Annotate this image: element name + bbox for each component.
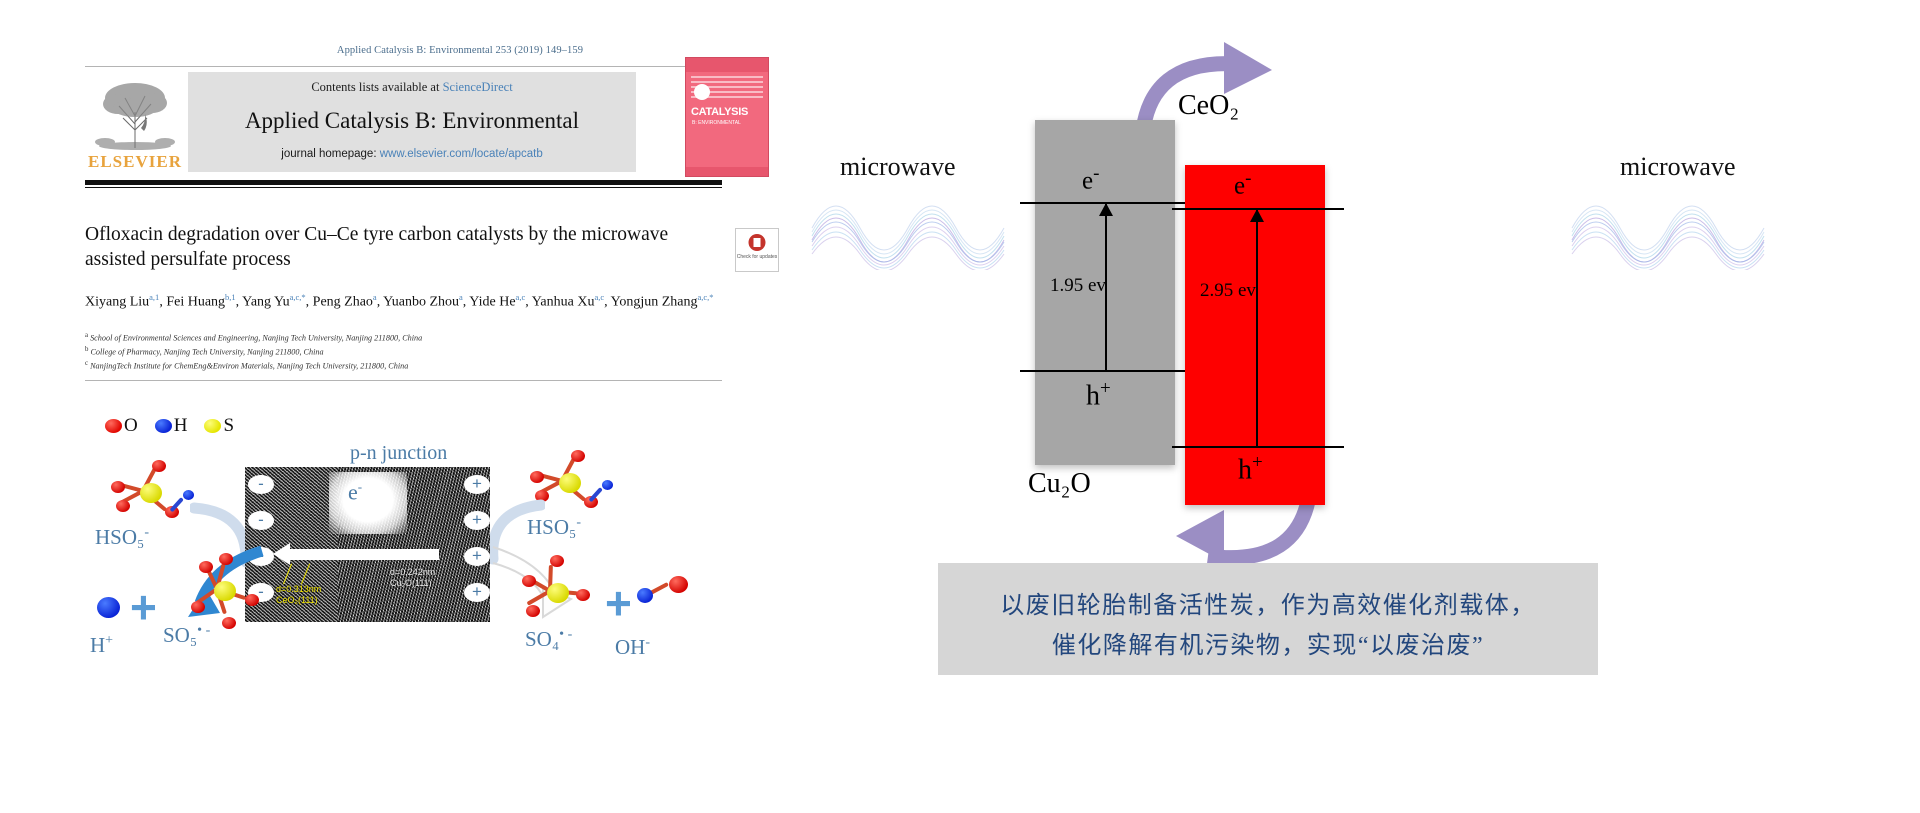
- legend-label: H: [174, 415, 188, 437]
- article-title: Ofloxacin degradation over Cu–Ce tyre ca…: [85, 222, 725, 272]
- contents-lists-line: Contents lists available at ScienceDirec…: [188, 80, 636, 95]
- masthead-bottom-rule-thin: [85, 187, 722, 188]
- paper-first-page: Applied Catalysis B: Environmental 253 (…: [0, 0, 860, 813]
- hso5-right-charge: -: [576, 515, 581, 530]
- journal-title: Applied Catalysis B: Environmental: [188, 108, 636, 134]
- cover-title: CATALYSIS: [691, 106, 748, 118]
- affiliation-marker: a: [85, 332, 88, 339]
- hole-letter: h: [1086, 380, 1100, 411]
- ceo2-hole-label: h+: [1238, 452, 1263, 486]
- cover-bottom-band: [686, 167, 768, 176]
- oh-text: OH: [615, 635, 645, 659]
- legend-item-sulfur: S: [204, 415, 234, 437]
- legend-label: O: [124, 415, 138, 437]
- ceo2-electron-label: e-: [1234, 168, 1251, 200]
- summary-line-1: 以废旧轮胎制备活性炭，作为高效催化剂载体，: [938, 585, 1598, 620]
- cu2o-hole-label: h+: [1086, 378, 1111, 412]
- microwave-waveform-left-icon: [810, 190, 1020, 270]
- negative-charge-badge: -: [248, 511, 274, 530]
- h-text: H: [90, 633, 105, 657]
- hydrogen-atom-icon: [97, 597, 120, 618]
- ceo2-valence-band-line: [1172, 446, 1344, 448]
- crossmark-book-icon: [754, 238, 761, 247]
- oxygen-atom-icon: [669, 576, 688, 593]
- legend-item-oxygen: O: [105, 415, 138, 437]
- mechanism-panel: e- 1.95 ev h+ Cu₂O e- 2.95 ev h+ CeO₂ mi…: [860, 0, 1920, 813]
- oxygen-atom-icon: [526, 605, 540, 617]
- label-hso5-left: HSO₅-: [95, 525, 149, 550]
- cu2o-valence-band-line: [1020, 370, 1192, 372]
- oxygen-atom-icon: [576, 589, 590, 601]
- journal-reference: Applied Catalysis B: Environmental 253 (…: [330, 45, 590, 56]
- hydrogen-atom-icon: [183, 490, 194, 500]
- legend-label: S: [223, 415, 234, 437]
- oxygen-atom-icon: [152, 460, 166, 472]
- molecule-so4-radical: [510, 557, 600, 625]
- electron-letter: e: [1234, 172, 1245, 199]
- ceo2-d-spacing: d=0.313nm: [276, 584, 321, 594]
- oxygen-atom-icon: [105, 419, 122, 433]
- affiliation-marker: b: [85, 346, 88, 353]
- so4-text: SO₄: [525, 627, 559, 651]
- lattice-spacing-marker-icon: [285, 563, 327, 585]
- molecule-so5-radical: [177, 555, 267, 623]
- header-rule: [85, 66, 720, 67]
- oxygen-atom-icon: [111, 481, 125, 493]
- cover-badge-icon: [694, 84, 710, 100]
- affiliation-item: a School of Environmental Sciences and E…: [85, 330, 725, 344]
- tem-label-cu2o: d=0.242nm Cu₂O(111): [390, 567, 435, 589]
- sulfur-atom-icon: [204, 419, 221, 433]
- hydrogen-atom-icon: [637, 588, 653, 603]
- affiliation-text: NanjingTech Institute for ChemEng&Enviro…: [90, 362, 408, 371]
- sulfur-atom-icon: [559, 473, 581, 493]
- electron-flow-arrow-icon: [289, 549, 439, 560]
- hole-charge: +: [1252, 452, 1263, 473]
- electron-charge: -: [358, 479, 362, 494]
- cover-subtitle: B: ENVIRONMENTAL: [692, 120, 741, 126]
- oxygen-atom-icon: [550, 555, 564, 567]
- crossmark-check-for-updates-badge[interactable]: Check for updates: [735, 228, 779, 272]
- page-divider-rule: [85, 380, 722, 381]
- oxygen-atom-icon: [191, 601, 205, 613]
- tem-micrograph-image: e- d=0.313nm CeO₂(111) d=0.242nm Cu₂O(11…: [245, 467, 490, 622]
- graphical-abstract: O H S p-n junction: [85, 405, 775, 805]
- oxygen-atom-icon: [522, 575, 536, 587]
- homepage-prefix: journal homepage:: [281, 148, 379, 160]
- molecule-oh-radical: [635, 560, 725, 628]
- oxygen-atom-icon: [199, 561, 213, 573]
- legend-item-hydrogen: H: [155, 415, 188, 437]
- microwave-waveform-right-icon: [1570, 190, 1780, 270]
- sulfur-atom-icon: [547, 583, 569, 603]
- journal-masthead: ELSEVIER Contents lists available at Sci…: [85, 72, 720, 172]
- summary-line-2: 催化降解有机污染物，实现“以废治废”: [938, 625, 1598, 660]
- label-h-plus: H+: [90, 633, 113, 658]
- label-so4-radical: SO₄• -: [525, 627, 572, 652]
- cu2o-electron-label: e-: [1082, 163, 1099, 195]
- microwave-label-right: microwave: [1620, 152, 1736, 182]
- h-charge: +: [105, 633, 113, 648]
- hso5-left-charge: -: [144, 525, 149, 540]
- label-so5-radical: SO₅• -: [163, 623, 210, 648]
- plus-sign-right: +: [605, 583, 632, 623]
- atom-legend: O H S: [105, 415, 251, 437]
- ceo2-material-label: CeO₂: [1178, 90, 1239, 122]
- contents-prefix: Contents lists available at: [311, 80, 442, 94]
- microwave-label-left: microwave: [840, 152, 956, 182]
- cu2o-d-spacing: d=0.242nm: [390, 567, 435, 577]
- electron-glow: [329, 472, 407, 534]
- plus-sign-left: +: [130, 587, 157, 627]
- author-list: Xiyang Liua,1, Fei Huangb,1, Yang Yua,c,…: [85, 288, 725, 312]
- oh-charge: -: [645, 635, 650, 650]
- journal-homepage-line: journal homepage: www.elsevier.com/locat…: [188, 148, 636, 160]
- affiliation-item: b College of Pharmacy, Nanjing Tech Univ…: [85, 344, 725, 358]
- affiliation-item: c NanjingTech Institute for ChemEng&Envi…: [85, 358, 725, 372]
- so5-charge: • -: [197, 623, 210, 638]
- affiliation-list: a School of Environmental Sciences and E…: [85, 330, 725, 373]
- oxygen-atom-icon: [245, 594, 259, 606]
- molecule-hso5-left: [103, 457, 193, 525]
- oxygen-atom-icon: [219, 553, 233, 565]
- oxygen-atom-icon: [530, 471, 544, 483]
- affiliation-text: School of Environmental Sciences and Eng…: [90, 334, 422, 343]
- positive-charge-badge: +: [464, 511, 490, 530]
- summary-box: 以废旧轮胎制备活性炭，作为高效催化剂载体， 催化降解有机污染物，实现“以废治废”: [938, 563, 1598, 675]
- affiliation-marker: c: [85, 360, 88, 367]
- hole-charge: +: [1100, 378, 1111, 399]
- so5-text: SO₅: [163, 623, 197, 647]
- affiliation-text: College of Pharmacy, Nanjing Tech Univer…: [90, 348, 323, 357]
- so4-charge: • -: [559, 627, 572, 642]
- journal-homepage-link[interactable]: www.elsevier.com/locate/apcatb: [380, 148, 543, 160]
- masthead-bottom-rule: [85, 180, 722, 185]
- sulfur-atom-icon: [140, 483, 162, 503]
- electron-letter: e: [348, 479, 358, 504]
- electron-charge: -: [1245, 168, 1251, 189]
- oxygen-atom-icon: [222, 617, 236, 629]
- sulfur-atom-icon: [214, 581, 236, 601]
- oxygen-atom-icon: [116, 500, 130, 512]
- positive-charge-badge: +: [464, 475, 490, 494]
- hydrogen-atom-icon: [155, 419, 172, 433]
- cu2o-material-label: Cu₂O: [1028, 468, 1091, 500]
- oxygen-atom-icon: [571, 450, 585, 462]
- journal-cover-image: CATALYSIS B: ENVIRONMENTAL: [685, 57, 769, 177]
- sciencedirect-link[interactable]: ScienceDirect: [443, 80, 513, 94]
- crossmark-label: Check for updates: [736, 254, 778, 260]
- elsevier-wordmark: ELSEVIER: [88, 152, 182, 170]
- pn-junction-label: p-n junction: [350, 442, 447, 465]
- ceo2-bandgap-value: 2.95 ev: [1200, 280, 1256, 302]
- cover-top-band: [686, 58, 768, 72]
- electron-symbol: e-: [348, 479, 362, 505]
- tem-label-ceo2: d=0.313nm CeO₂(111): [276, 584, 321, 606]
- cu2o-bandgap-value: 1.95 ev: [1050, 275, 1106, 297]
- hole-letter: h: [1238, 454, 1252, 485]
- label-oh-radical: OH-: [615, 635, 650, 660]
- hso5-left-text: HSO₅: [95, 525, 144, 549]
- cu2o-plane: Cu₂O(111): [390, 578, 432, 588]
- ceo2-plane: CeO₂(111): [276, 595, 318, 605]
- hydrogen-atom-icon: [602, 480, 613, 490]
- electron-letter: e: [1082, 167, 1093, 194]
- negative-charge-badge: -: [248, 475, 274, 494]
- elsevier-tree-logo-icon: ELSEVIER: [85, 78, 188, 170]
- electron-charge: -: [1093, 163, 1099, 184]
- ceo2-bandgap-arrow-icon: [1256, 210, 1258, 446]
